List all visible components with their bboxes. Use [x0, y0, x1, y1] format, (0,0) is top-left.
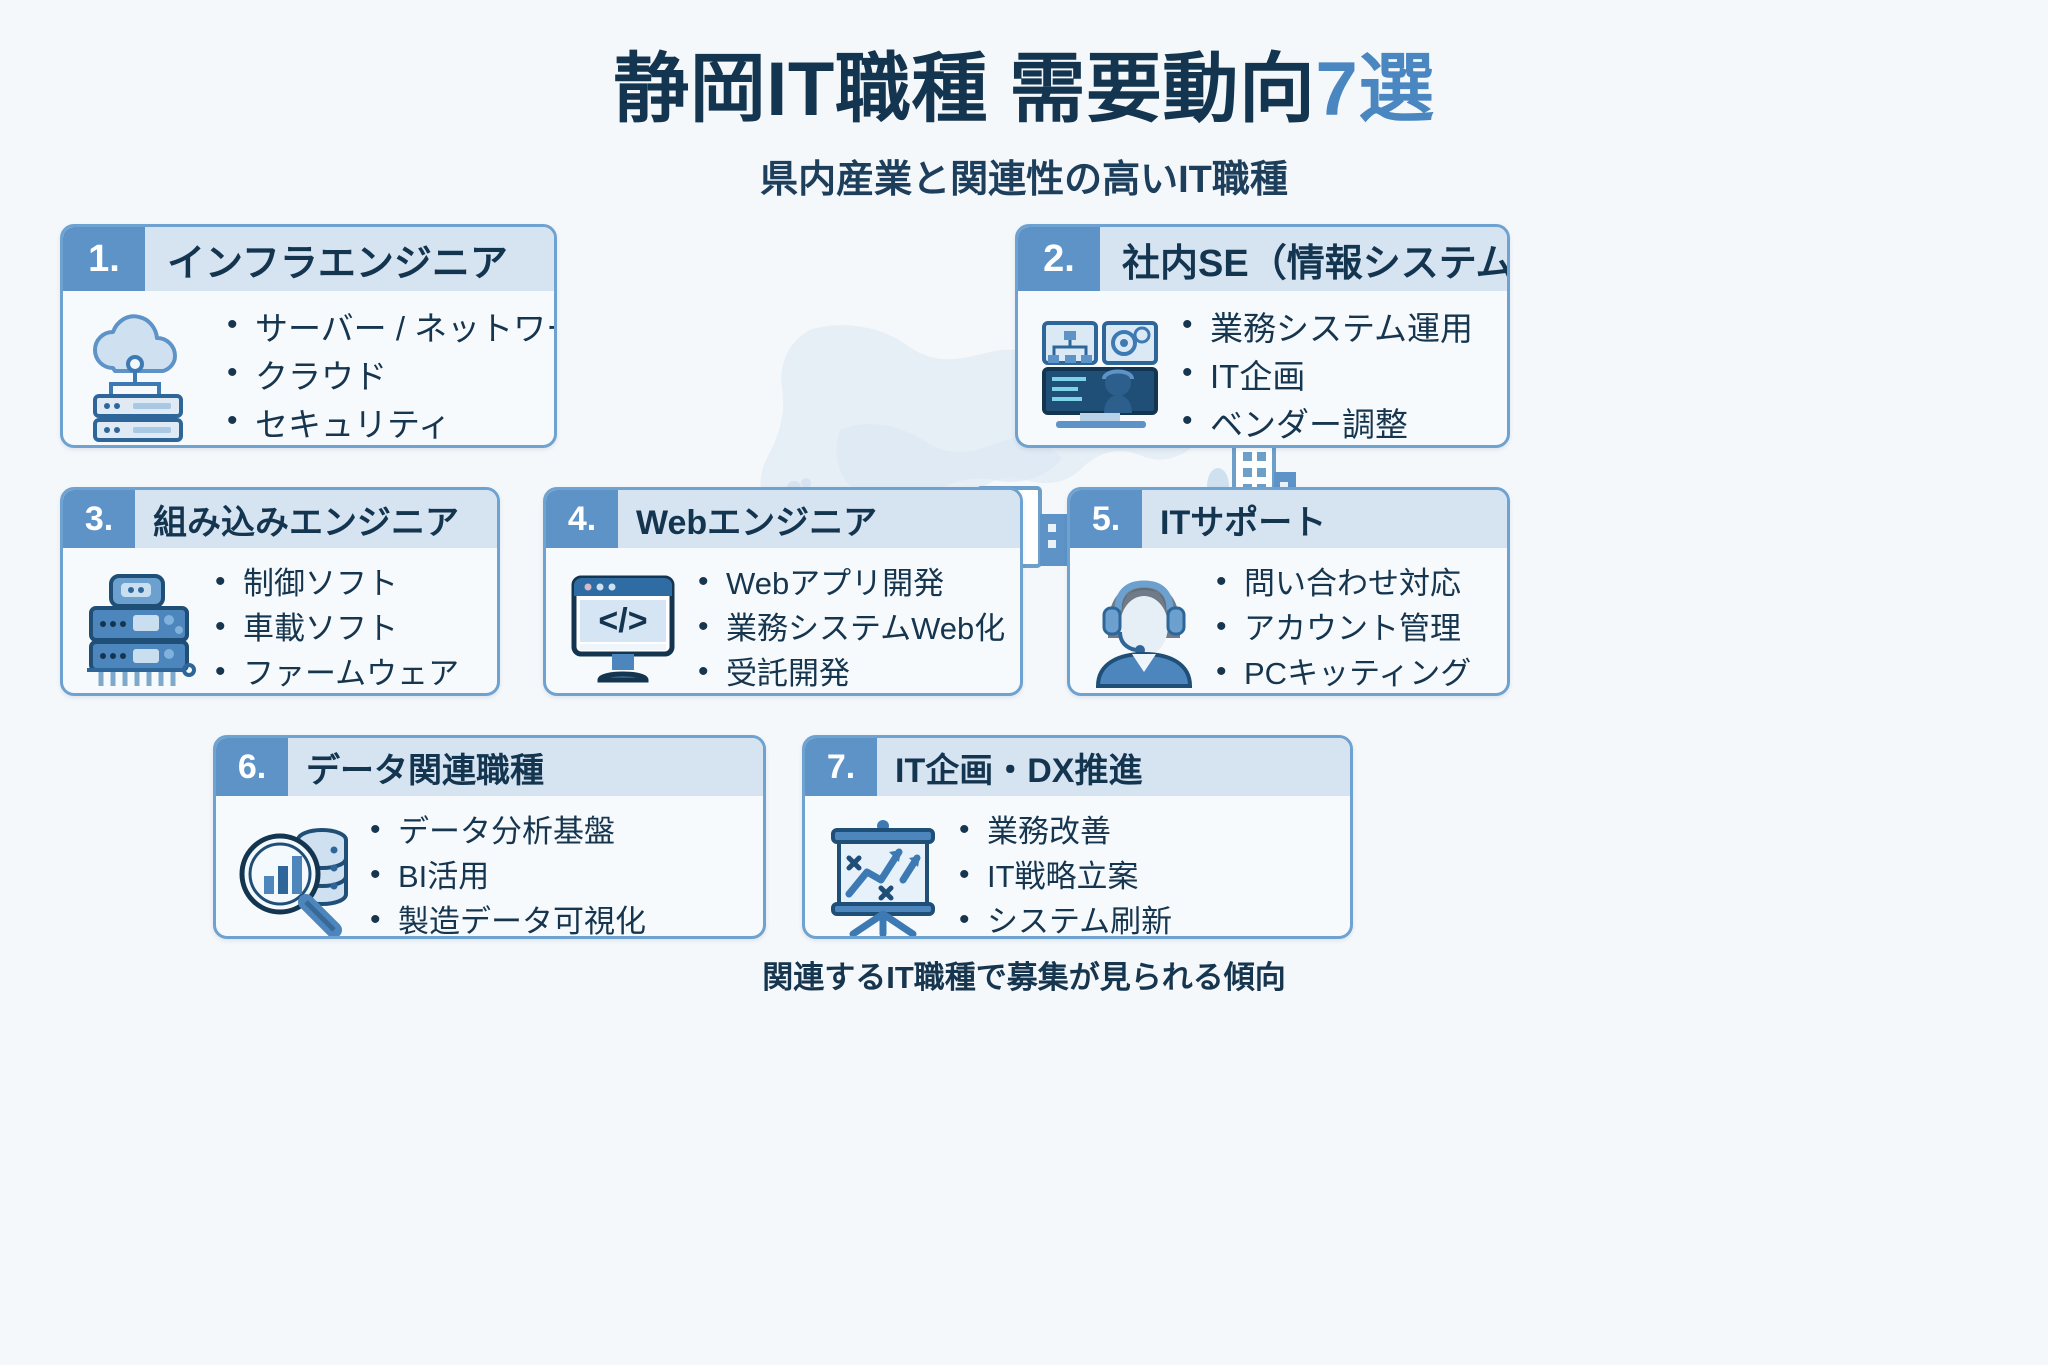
card-title: 組み込みエンジニア [135, 490, 497, 548]
card-bullet-list: Webアプリ開発 業務システムWeb化 受託開発 [696, 562, 1005, 696]
card-header: 6. データ関連職種 [216, 738, 763, 796]
magnifier-database-icon [234, 818, 354, 936]
list-item: サーバー / ネットワーク [225, 305, 557, 353]
list-item: 業務システムWeb化 [696, 607, 1005, 652]
card-header: 4. Webエンジニア [546, 490, 1020, 548]
card-bullet-list: 問い合わせ対応 アカウント管理 PCキッティング [1214, 562, 1471, 696]
job-card-4[interactable]: 4. Webエンジニア </> Webアプリ開発 [543, 487, 1023, 696]
card-title: IT企画・DX推進 [877, 738, 1350, 796]
card-bullet-list: 業務改善 IT戦略立案 システム刷新 [957, 810, 1172, 939]
card-header: 1. インフラエンジニア [63, 227, 554, 291]
svg-text:</>: </> [598, 602, 647, 640]
list-item: 業務改善 [957, 810, 1172, 855]
card-header: 5. ITサポート [1070, 490, 1507, 548]
card-number-badge: 1. [63, 227, 145, 291]
footer-note: 関連するIT職種で募集が見られる傾向 [0, 952, 2048, 997]
list-item: BI活用 [368, 855, 646, 900]
list-item: 車載ソフト [213, 607, 459, 652]
list-item: 受託開発 [696, 652, 1005, 696]
card-header: 2. 社内SE（情報システム） [1018, 227, 1507, 291]
job-card-3[interactable]: 3. 組み込みエンジニア [60, 487, 500, 696]
card-header: 7. IT企画・DX推進 [805, 738, 1350, 796]
card-bullet-list: 制御ソフト 車載ソフト ファームウェア [213, 562, 459, 696]
presentation-growth-icon [823, 818, 943, 936]
list-item: 業務システム運用 [1180, 305, 1473, 353]
card-number-badge: 2. [1018, 227, 1100, 291]
job-card-5[interactable]: 5. ITサポート 問い合わせ対応 ア [1067, 487, 1510, 696]
job-card-1[interactable]: 1. インフラエンジニア サーバー / ネットワーク クラウ [60, 224, 557, 448]
job-card-6[interactable]: 6. データ関連職種 [213, 735, 766, 939]
list-item: 制御ソフト [213, 562, 459, 607]
card-body: 業務システム運用 IT企画 ベンダー調整 [1018, 291, 1507, 448]
card-body: サーバー / ネットワーク クラウド セキュリティ [63, 291, 554, 448]
card-body: 制御ソフト 車載ソフト ファームウェア [63, 548, 497, 696]
list-item: ベンダー調整 [1180, 401, 1473, 448]
embedded-chip-icon [81, 570, 199, 688]
list-item: IT企画 [1180, 353, 1473, 401]
card-number-badge: 7. [805, 738, 877, 796]
card-body: </> Webアプリ開発 業務システムWeb化 受託開発 [546, 548, 1020, 696]
card-title: インフラエンジニア [145, 227, 554, 291]
list-item: 問い合わせ対応 [1214, 562, 1471, 607]
list-item: データ分析基盤 [368, 810, 646, 855]
card-bullet-list: データ分析基盤 BI活用 製造データ可視化 [368, 810, 646, 939]
page-header: 静岡IT職種 需要動向7選 県内産業と関連性の高いIT職種 [0, 48, 2048, 203]
list-item: IT戦略立案 [957, 855, 1172, 900]
card-bullet-list: 業務システム運用 IT企画 ベンダー調整 [1180, 305, 1473, 448]
card-number-badge: 4. [546, 490, 618, 548]
card-body: 問い合わせ対応 アカウント管理 PCキッティング [1070, 548, 1507, 696]
cloud-server-icon [81, 312, 211, 442]
card-title: データ関連職種 [288, 738, 763, 796]
card-title: Webエンジニア [618, 490, 1020, 548]
card-body: データ分析基盤 BI活用 製造データ可視化 [216, 796, 763, 939]
list-item: ファームウェア [213, 652, 459, 696]
card-body: 業務改善 IT戦略立案 システム刷新 [805, 796, 1350, 939]
list-item: セキュリティ [225, 401, 557, 448]
job-card-7[interactable]: 7. IT企画・DX推進 業務改 [802, 735, 1353, 939]
job-card-2[interactable]: 2. 社内SE（情報システム） [1015, 224, 1510, 448]
list-item: 製造データ可視化 [368, 900, 646, 939]
list-item: Webアプリ開発 [696, 562, 1005, 607]
page-title-accent: 7選 [1315, 47, 1434, 132]
list-item: アカウント管理 [1214, 607, 1471, 652]
infographic-root: 静岡IT職種 需要動向7選 県内産業と関連性の高いIT職種 1. インフラエンジ… [0, 0, 2048, 1365]
headset-operator-icon [1088, 570, 1200, 688]
list-item: クラウド [225, 353, 557, 401]
card-number-badge: 5. [1070, 490, 1142, 548]
card-number-badge: 6. [216, 738, 288, 796]
card-number-badge: 3. [63, 490, 135, 548]
page-subtitle: 県内産業と関連性の高いIT職種 [0, 148, 2048, 203]
page-title: 静岡IT職種 需要動向7選 [0, 48, 2048, 132]
internal-se-workstation-icon [1036, 317, 1166, 437]
card-title: 社内SE（情報システム） [1100, 227, 1510, 291]
code-monitor-icon: </> [564, 570, 682, 688]
card-header: 3. 組み込みエンジニア [63, 490, 497, 548]
card-title: ITサポート [1142, 490, 1507, 548]
list-item: PCキッティング [1214, 652, 1471, 696]
page-title-main: 静岡IT職種 需要動向 [613, 47, 1315, 132]
card-bullet-list: サーバー / ネットワーク クラウド セキュリティ [225, 305, 557, 448]
list-item: システム刷新 [957, 900, 1172, 939]
